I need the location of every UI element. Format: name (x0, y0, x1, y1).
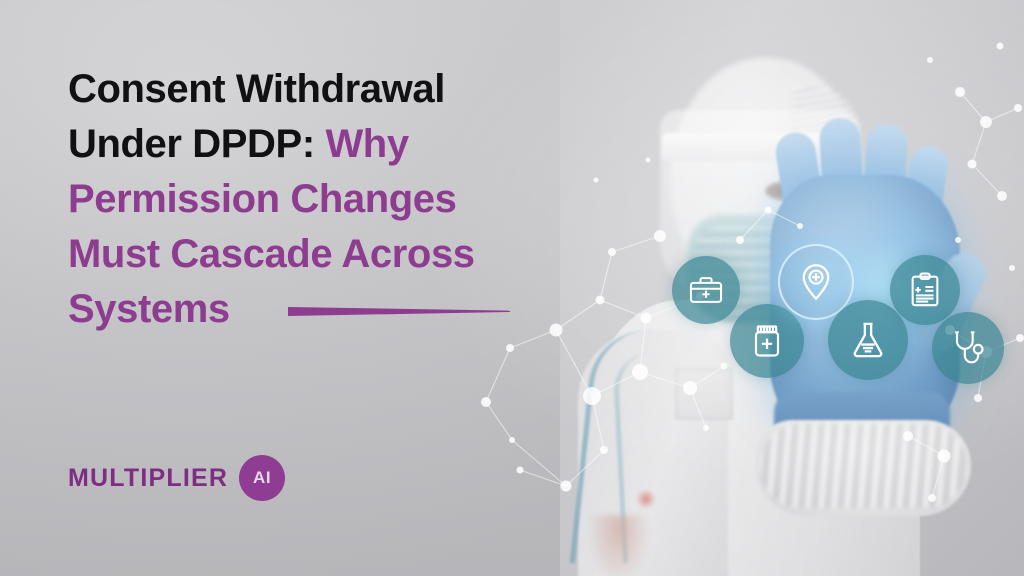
headline-line-5: Systems (68, 287, 230, 331)
page-title: Consent Withdrawal Under DPDP: Why Permi… (68, 62, 598, 337)
blog-hero-banner: Consent Withdrawal Under DPDP: Why Permi… (0, 0, 1024, 576)
headline-line-4: Must Cascade Across (68, 232, 475, 276)
headline-line-2-accent: Why (325, 122, 408, 166)
logo-ai-badge: AI (239, 455, 285, 501)
purple-tapered-rule (288, 307, 510, 316)
brand-logo[interactable]: MULTIPLIER AI (68, 455, 285, 501)
headline-line-1: Consent Withdrawal (68, 67, 445, 111)
headline-line-3: Permission Changes (68, 177, 456, 221)
logo-badge-label: AI (253, 468, 271, 488)
logo-wordmark: MULTIPLIER (68, 464, 228, 493)
headline-line-2-plain: Under DPDP: (68, 122, 325, 166)
